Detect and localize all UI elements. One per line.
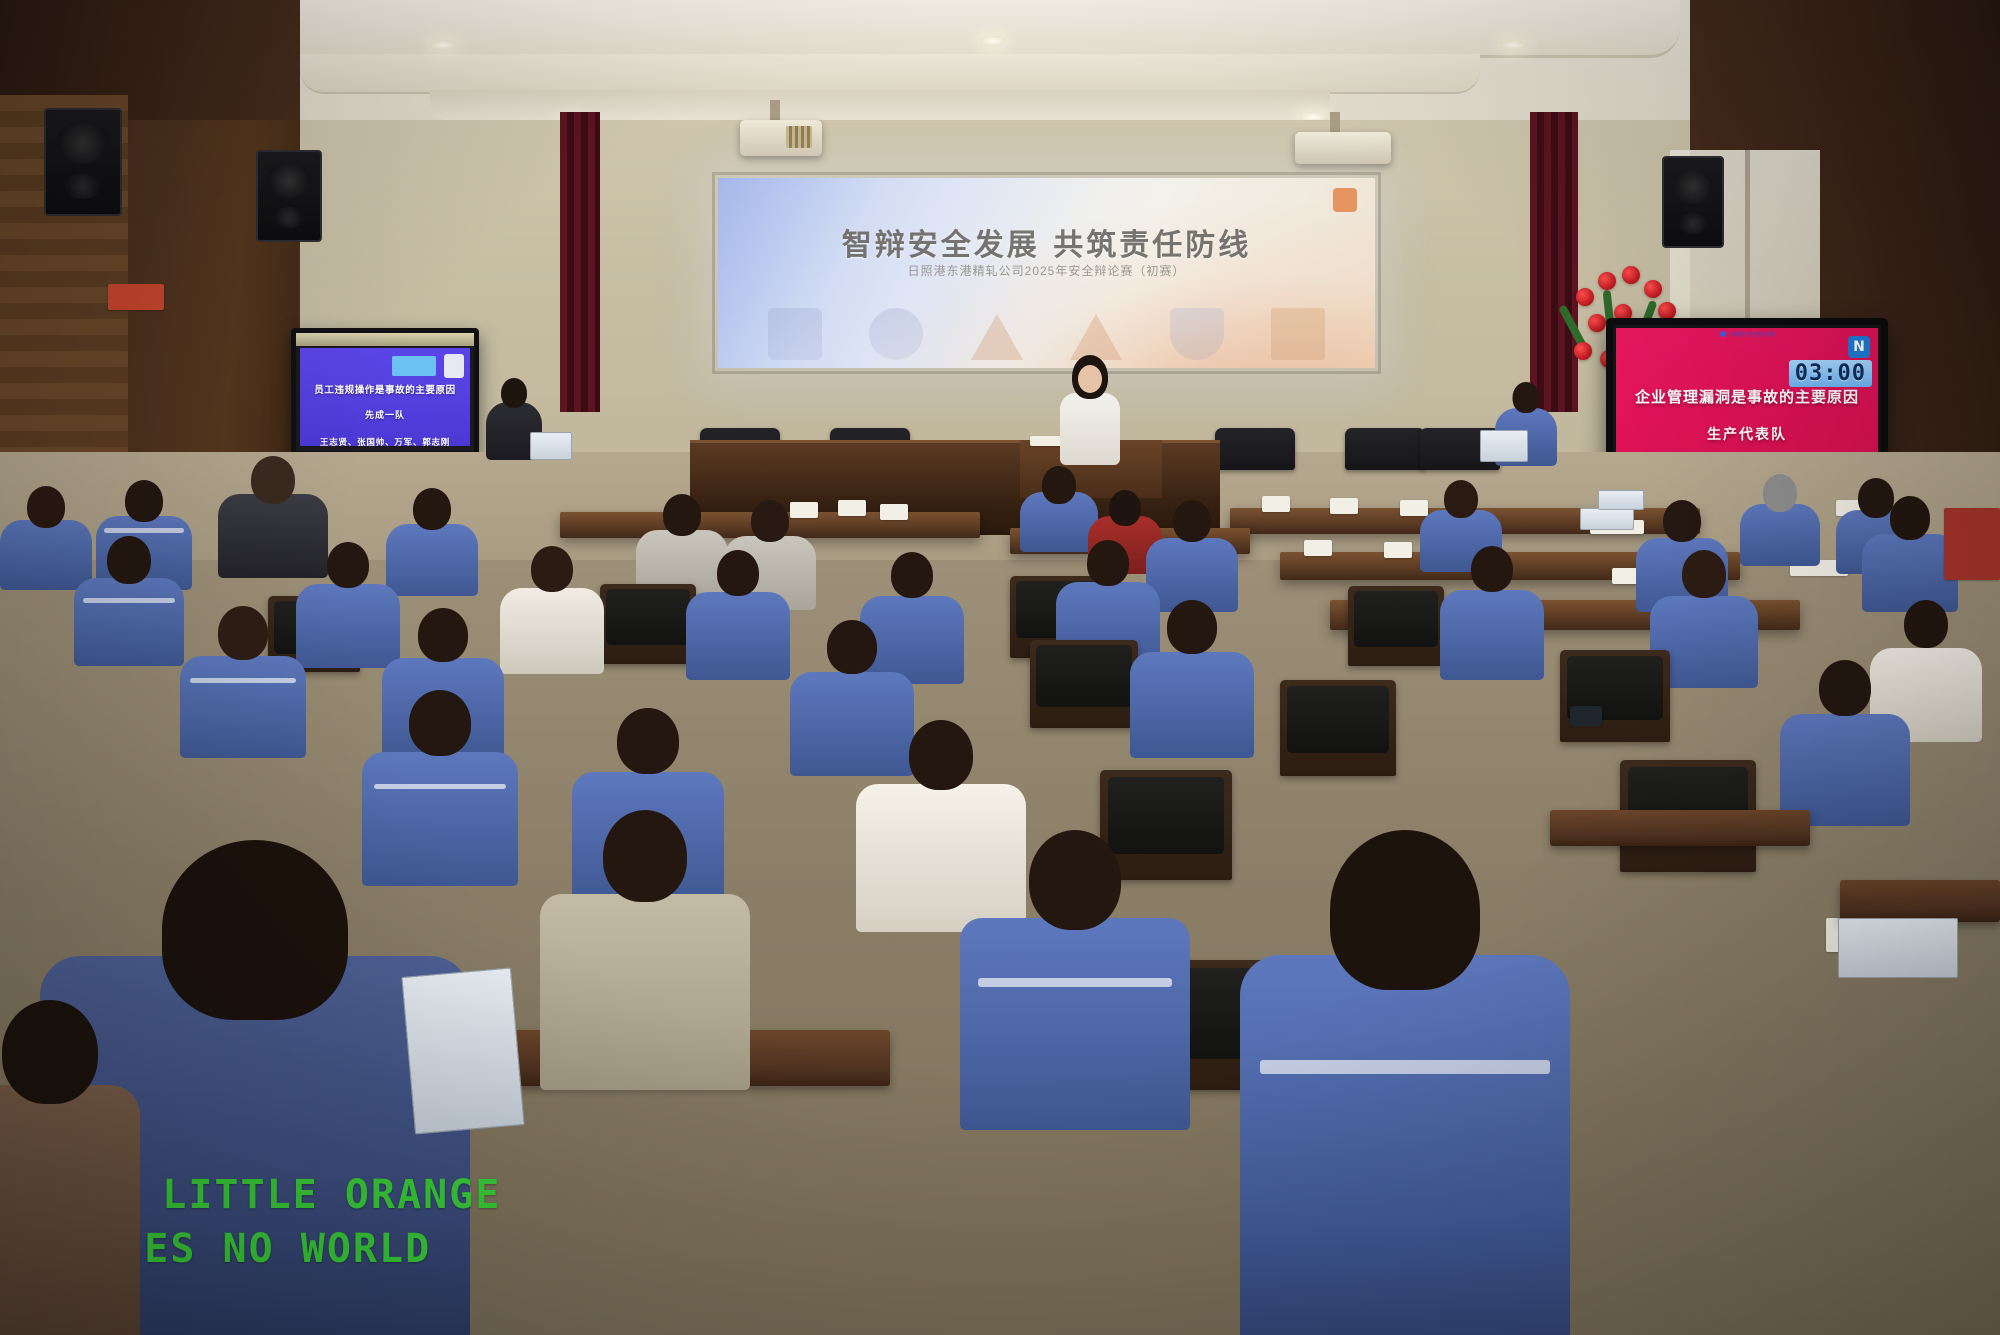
- person-head: [1087, 540, 1129, 586]
- rose-icon: [1598, 272, 1616, 290]
- phone-icon: [1570, 706, 1602, 726]
- right-display-topbar-label: 日照港 安全辩论赛: [1730, 331, 1775, 338]
- monitor-icon: [768, 308, 822, 360]
- brand-logo-icon: N: [1848, 336, 1870, 358]
- audience-chair: [1030, 640, 1138, 728]
- person-head: [827, 620, 877, 674]
- presenter-face: [1078, 365, 1102, 393]
- wall-cabinet: [1944, 508, 2000, 580]
- audience-person: [540, 810, 750, 1090]
- ceiling-light-icon: [430, 40, 456, 50]
- chair-cushion: [1287, 686, 1389, 753]
- person-torso: [960, 918, 1190, 1130]
- person-head: [251, 456, 295, 504]
- warning-triangle-icon: [1070, 314, 1122, 360]
- head-table-chair: [1345, 428, 1425, 470]
- right-display-topbar: 日照港 安全辩论赛: [1616, 328, 1878, 340]
- left-display-team: 先成一队: [300, 408, 470, 421]
- ceiling-light-icon: [1500, 40, 1526, 50]
- topbar-dot-icon: [1720, 331, 1726, 337]
- presenter-body: [1060, 393, 1120, 465]
- person-head: [891, 552, 933, 598]
- tablet-icon: [401, 968, 524, 1135]
- loudspeaker-icon: [256, 150, 322, 242]
- uniform-stripe: [83, 598, 175, 603]
- audience-person: [686, 550, 790, 680]
- brand-logo-icon: [1333, 188, 1357, 212]
- person-head: [1904, 600, 1948, 648]
- foreground-person-right: [1240, 830, 1570, 1335]
- curtain-left: [560, 112, 600, 412]
- countdown-timer: 03:00: [1789, 360, 1872, 387]
- audience-chair: [1348, 586, 1444, 666]
- projection-title: 智辩安全发展 共筑责任防线: [718, 220, 1375, 264]
- person-torso: [1130, 652, 1254, 758]
- conference-hall-scene: 智辩安全发展 共筑责任防线 日照港东港精轧公司2025年安全辩论赛（初赛） 员工…: [0, 0, 2000, 1335]
- person-head: [2, 1000, 98, 1104]
- right-display-team: 生产代表队: [1616, 424, 1878, 444]
- name-card: [1304, 540, 1332, 556]
- audience-chair: [1280, 680, 1396, 776]
- audience-desk: [1840, 880, 2000, 922]
- audience-person: [1780, 660, 1910, 826]
- rose-icon: [1644, 280, 1662, 298]
- tablet-icon: [1838, 918, 1958, 978]
- rose-icon: [1576, 288, 1594, 306]
- shield-icon: [1170, 308, 1224, 360]
- person-head: [125, 480, 163, 522]
- chair-cushion: [1354, 591, 1438, 647]
- person-head: [413, 488, 451, 530]
- person-head: [218, 606, 268, 660]
- uniform-stripe: [978, 978, 1171, 987]
- audience-chair: [600, 584, 696, 664]
- chair-cushion: [1036, 645, 1131, 707]
- person-head: [1042, 466, 1076, 504]
- person-head: [1682, 550, 1726, 598]
- loudspeaker-icon: [44, 108, 122, 216]
- person-head: [27, 486, 65, 528]
- person-head: [717, 550, 759, 596]
- person-torso: [540, 894, 750, 1090]
- name-card: [1330, 498, 1358, 514]
- name-card: [838, 500, 866, 516]
- person-torso: [180, 656, 306, 758]
- laptop-icon: [530, 432, 572, 460]
- projection-icon-row: [718, 274, 1375, 360]
- person-head: [327, 542, 369, 588]
- loudspeaker-icon: [1662, 156, 1724, 248]
- audience-person: [180, 606, 306, 758]
- rose-icon: [1588, 314, 1606, 332]
- name-card: [880, 504, 908, 520]
- head-table-chair: [1215, 428, 1295, 470]
- audience-person: [74, 536, 184, 666]
- person-head: [107, 536, 151, 584]
- person-torso: [0, 1085, 140, 1335]
- projector-mount: [1330, 112, 1340, 134]
- person-head: [531, 546, 573, 592]
- name-card: [1262, 496, 1290, 512]
- audience-person: [1440, 546, 1544, 680]
- left-display-panel: 员工违规操作是事故的主要原因 先成一队 王志贤、张国帅、万军、郭志刚: [300, 348, 470, 446]
- foreground-person-left-edge: [0, 1000, 140, 1335]
- pillar-icon: [1271, 308, 1325, 360]
- person-head: [1444, 480, 1478, 518]
- audience-person: [500, 546, 604, 674]
- person-head: [162, 840, 348, 1020]
- person-head: [603, 810, 687, 902]
- projector-icon: [740, 120, 822, 156]
- ceiling-band-outer: [120, 0, 1680, 58]
- person-head: [1890, 496, 1930, 540]
- person-head: [1330, 830, 1480, 990]
- laptop-icon: [1598, 490, 1644, 510]
- left-display-members: 王志贤、张国帅、万军、郭志刚: [300, 436, 470, 446]
- person-head: [663, 494, 701, 536]
- audience-person: [1130, 600, 1254, 758]
- rose-icon: [1622, 266, 1640, 284]
- audience-chair: [1560, 650, 1670, 742]
- main-projection-screen: 智辩安全发展 共筑责任防线 日照港东港精轧公司2025年安全辩论赛（初赛）: [718, 178, 1375, 368]
- uniform-stripe: [190, 678, 296, 683]
- ceiling-band-inner: [300, 54, 1480, 94]
- laptop-icon: [1480, 430, 1528, 462]
- uniform-stripe: [104, 528, 185, 533]
- monitor-bezel: [296, 333, 474, 346]
- staff-head: [501, 378, 527, 408]
- fire-extinguisher-box: [108, 284, 164, 310]
- person-head: [418, 608, 468, 662]
- person-head: [1167, 600, 1217, 654]
- audience-person: [960, 830, 1190, 1130]
- right-display-topic: 企业管理漏洞是事故的主要原因: [1626, 386, 1868, 407]
- projector-mount: [770, 100, 780, 122]
- person-head: [909, 720, 973, 790]
- person-torso: [500, 588, 604, 674]
- chair-cushion: [606, 589, 690, 645]
- jacket-print-line1: MY LITTLE ORANGE: [84, 1172, 501, 1218]
- rose-icon: [1574, 342, 1592, 360]
- person-head: [1109, 490, 1141, 526]
- person-head: [1029, 830, 1121, 930]
- uniform-stripe: [1260, 1060, 1550, 1074]
- arrow-icon: [971, 314, 1023, 360]
- presenter-speaker: [1050, 355, 1130, 465]
- person-head: [617, 708, 679, 774]
- projector-icon: [1295, 132, 1391, 164]
- staff-head: [1513, 382, 1540, 413]
- name-card: [1384, 542, 1412, 558]
- left-display-monitor: 员工违规操作是事故的主要原因 先成一队 王志贤、张国帅、万军、郭志刚: [291, 328, 479, 456]
- uniform-stripe: [374, 784, 505, 789]
- left-display-badge: [444, 354, 464, 378]
- person-head: [751, 500, 789, 542]
- person-head: [1819, 660, 1871, 716]
- person-torso: [1440, 590, 1544, 680]
- person-torso: [1240, 955, 1570, 1335]
- person-head: [1173, 500, 1211, 542]
- audience-desk: [1550, 810, 1810, 846]
- gear-icon: [869, 308, 923, 360]
- person-torso: [74, 578, 184, 666]
- person-head: [1763, 474, 1797, 512]
- left-display-tag: [392, 356, 436, 376]
- person-head: [1471, 546, 1513, 592]
- person-head: [1663, 500, 1701, 542]
- laptop-icon: [1580, 508, 1634, 530]
- ceiling-light-icon: [980, 36, 1006, 46]
- person-head: [409, 690, 471, 756]
- left-display-topic: 员工违规操作是事故的主要原因: [300, 382, 470, 396]
- person-torso: [686, 592, 790, 680]
